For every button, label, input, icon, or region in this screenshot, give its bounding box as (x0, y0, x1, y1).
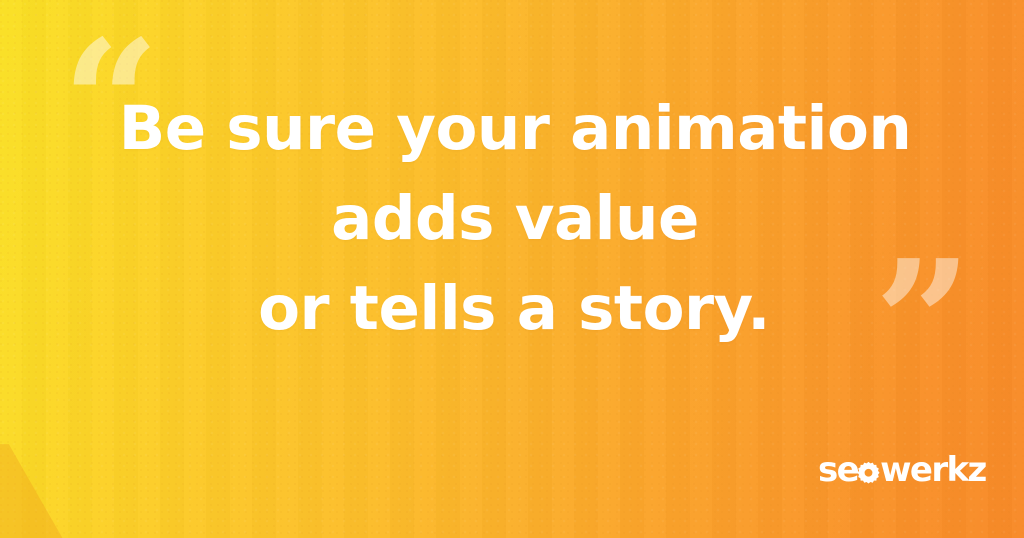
logo-text-part-1: se (818, 453, 858, 487)
quote-card: “ ” Be sure your animation adds value or… (0, 0, 1024, 538)
gear-icon (857, 461, 880, 484)
seowerkz-logo[interactable]: se werkz (818, 451, 986, 489)
corner-accent-wedge (0, 436, 80, 538)
quote-line-2: adds value (6, 174, 1024, 264)
quote-line-3: or tells a story. (4, 264, 1024, 354)
logo-text-part-2: werkz (880, 453, 986, 487)
quote-line-1: Be sure your animation (6, 84, 1024, 174)
quote-text-block: Be sure your animation adds value or tel… (0, 84, 1024, 354)
